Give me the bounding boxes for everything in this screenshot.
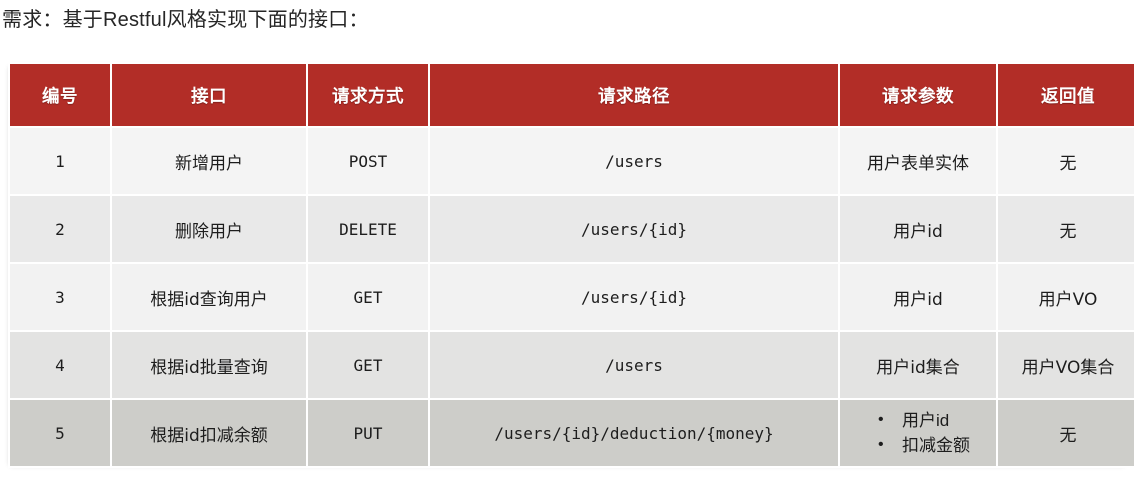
cell-api: 根据id扣减余额 [112, 400, 306, 466]
cell-param: 用户id [840, 264, 996, 330]
table-row: 4 根据id批量查询 GET /users 用户id集合 用户VO集合 [10, 332, 1134, 398]
table-body: 1 新增用户 POST /users 用户表单实体 无 2 删除用户 DELET… [10, 128, 1134, 466]
cell-path: /users/{id}/deduction/{money} [430, 400, 838, 466]
cell-path: /users/{id} [430, 196, 838, 262]
cell-param: 用户id集合 [840, 332, 996, 398]
param-bullet-item: 用户id [876, 408, 970, 433]
cell-return: 用户VO [998, 264, 1134, 330]
column-header-param: 请求参数 [840, 64, 996, 126]
cell-method: POST [308, 128, 428, 194]
cell-no: 5 [10, 400, 110, 466]
cell-no: 3 [10, 264, 110, 330]
cell-method: PUT [308, 400, 428, 466]
cell-api: 删除用户 [112, 196, 306, 262]
column-header-method: 请求方式 [308, 64, 428, 126]
cell-method: DELETE [308, 196, 428, 262]
column-header-no: 编号 [10, 64, 110, 126]
column-header-path: 请求路径 [430, 64, 838, 126]
column-header-return: 返回值 [998, 64, 1134, 126]
cell-method: GET [308, 264, 428, 330]
cell-method: GET [308, 332, 428, 398]
api-table-container: 编号 接口 请求方式 请求路径 请求参数 返回值 1 新增用户 POST /us… [8, 62, 1126, 464]
cell-path: /users [430, 332, 838, 398]
cell-return: 无 [998, 196, 1134, 262]
cell-return: 无 [998, 400, 1134, 466]
page-root: 需求：基于Restful风格实现下面的接口： 编号 接口 请求方式 请求路径 请… [0, 0, 1134, 483]
cell-no: 1 [10, 128, 110, 194]
cell-api: 根据id批量查询 [112, 332, 306, 398]
cell-param: 用户表单实体 [840, 128, 996, 194]
param-bullet-list: 用户id 扣减金额 [866, 408, 970, 458]
cell-api: 根据id查询用户 [112, 264, 306, 330]
column-header-api: 接口 [112, 64, 306, 126]
requirement-caption: 需求：基于Restful风格实现下面的接口： [2, 6, 369, 34]
cell-api: 新增用户 [112, 128, 306, 194]
cell-no: 4 [10, 332, 110, 398]
param-bullet-item: 扣减金额 [876, 433, 970, 458]
table-row: 5 根据id扣减余额 PUT /users/{id}/deduction/{mo… [10, 400, 1134, 466]
cell-param: 用户id 扣减金额 [840, 400, 996, 466]
cell-return: 无 [998, 128, 1134, 194]
table-row: 1 新增用户 POST /users 用户表单实体 无 [10, 128, 1134, 194]
table-row: 2 删除用户 DELETE /users/{id} 用户id 无 [10, 196, 1134, 262]
api-table: 编号 接口 请求方式 请求路径 请求参数 返回值 1 新增用户 POST /us… [8, 62, 1134, 468]
cell-path: /users/{id} [430, 264, 838, 330]
table-header: 编号 接口 请求方式 请求路径 请求参数 返回值 [10, 64, 1134, 126]
cell-return: 用户VO集合 [998, 332, 1134, 398]
table-row: 3 根据id查询用户 GET /users/{id} 用户id 用户VO [10, 264, 1134, 330]
cell-no: 2 [10, 196, 110, 262]
cell-param: 用户id [840, 196, 996, 262]
table-header-row: 编号 接口 请求方式 请求路径 请求参数 返回值 [10, 64, 1134, 126]
cell-path: /users [430, 128, 838, 194]
